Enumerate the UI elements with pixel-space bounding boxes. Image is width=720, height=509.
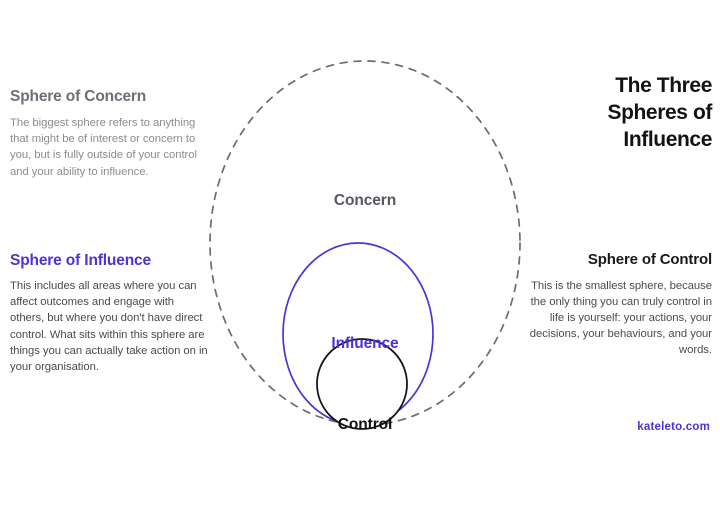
- page-title-line-2: Spheres of: [522, 99, 712, 126]
- sphere-of-influence-body: This includes all areas where you can af…: [10, 278, 210, 375]
- brand-footer-link[interactable]: kateleto.com: [520, 421, 710, 433]
- page-title-line-1: The Three: [522, 72, 712, 99]
- sphere-of-influence-block: Sphere of Influence This includes all ar…: [10, 252, 210, 375]
- sphere-of-control-body: This is the smallest sphere, because the…: [522, 278, 712, 359]
- poster-canvas: Sphere of Concern The biggest sphere ref…: [0, 0, 720, 509]
- sphere-of-concern-block: Sphere of Concern The biggest sphere ref…: [10, 88, 210, 180]
- sphere-of-influence-heading: Sphere of Influence: [10, 252, 210, 269]
- control-label: Control: [195, 416, 535, 434]
- sphere-of-concern-heading: Sphere of Concern: [10, 88, 210, 105]
- concern-label: Concern: [195, 192, 535, 210]
- sphere-of-concern-body: The biggest sphere refers to anything th…: [10, 115, 210, 180]
- three-spheres-diagram: Concern Influence Control: [195, 40, 535, 440]
- sphere-of-control-heading: Sphere of Control: [522, 252, 712, 269]
- page-title: The Three Spheres of Influence: [522, 72, 712, 153]
- page-title-line-3: Influence: [522, 126, 712, 153]
- sphere-of-control-block: Sphere of Control This is the smallest s…: [522, 252, 712, 359]
- page-title-block: The Three Spheres of Influence: [522, 72, 712, 153]
- influence-label: Influence: [195, 335, 535, 353]
